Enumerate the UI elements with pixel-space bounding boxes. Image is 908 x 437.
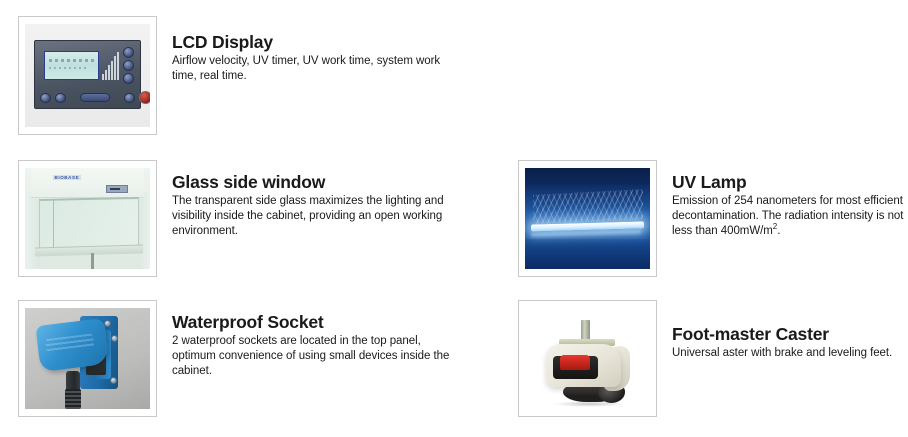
uv-lamp-photo xyxy=(525,168,650,269)
lcd-round-button-3 xyxy=(123,73,134,84)
feature-card-lcd-display: LCD Display Airflow velocity, UV timer, … xyxy=(18,16,457,135)
socket-screw-top xyxy=(104,320,111,327)
glass-side-window-photo-frame: BIOBASE xyxy=(18,160,157,277)
lcd-left-arrow-button xyxy=(40,93,51,103)
glass-side-window-description: The transparent side glass maximizes the… xyxy=(172,194,457,240)
cabinet-top-panel xyxy=(31,168,144,198)
cabinet-right-wall xyxy=(138,192,151,269)
uv-lamp-description-line-4: than 400mW/m xyxy=(695,225,772,237)
airflow-bars-icon xyxy=(102,52,119,80)
foot-master-caster-title: Foot-master Caster xyxy=(672,324,908,344)
foot-master-caster-description: Universal aster with brake and leveling … xyxy=(672,346,908,361)
waterproof-socket-description: 2 waterproof sockets are located in the … xyxy=(172,334,457,380)
lcd-up-down-pill-button xyxy=(80,93,110,102)
glass-side-window-photo: BIOBASE xyxy=(25,168,150,269)
socket-cable-strain-relief xyxy=(65,389,81,409)
lcd-panel-body xyxy=(34,40,142,109)
lcd-bottom-button-row xyxy=(40,91,135,104)
feature-card-waterproof-socket: Waterproof Socket 2 waterproof sockets a… xyxy=(18,300,457,417)
lcd-right-buttons xyxy=(120,47,136,84)
lcd-round-button-2 xyxy=(123,60,134,71)
lcd-power-button xyxy=(139,91,150,104)
waterproof-socket-text-block: Waterproof Socket 2 waterproof sockets a… xyxy=(157,300,457,380)
foot-master-caster-photo-frame xyxy=(518,300,657,417)
lcd-display-text-block: LCD Display Airflow velocity, UV timer, … xyxy=(157,16,457,84)
waterproof-socket-photo-frame xyxy=(18,300,157,417)
feature-card-foot-master-caster: Foot-master Caster Universal aster with … xyxy=(518,300,908,417)
glass-side-window-text-block: Glass side window The transparent side g… xyxy=(157,160,457,240)
foot-master-caster-text-block: Foot-master Caster Universal aster with … xyxy=(657,300,908,361)
lcd-enter-button xyxy=(124,93,135,103)
uv-lamp-text-block: UV Lamp Emission of 254 nanometers for m… xyxy=(657,160,908,240)
uv-lamp-description-tail: . xyxy=(777,225,780,237)
lcd-screen xyxy=(44,51,99,80)
uv-perforated-grille xyxy=(533,189,643,225)
waterproof-socket-photo xyxy=(25,308,150,409)
glass-side-window-title: Glass side window xyxy=(172,172,457,192)
cabinet-stand-leg xyxy=(91,253,94,269)
uv-lamp-photo-frame xyxy=(518,160,657,277)
lcd-round-button-1 xyxy=(123,47,134,58)
uv-lower-shading xyxy=(525,239,650,269)
uv-lamp-description-line-1: Emission of 254 nanometers for xyxy=(672,195,833,207)
uv-lamp-description: Emission of 254 nanometers for most effi… xyxy=(672,194,908,240)
lcd-display-photo-frame xyxy=(18,16,157,135)
foot-master-caster-photo xyxy=(525,308,650,409)
socket-screw-bottom xyxy=(110,377,117,384)
biobase-brand-label: BIOBASE xyxy=(53,175,82,180)
cabinet-left-wall xyxy=(25,192,40,269)
lcd-display-title: LCD Display xyxy=(172,32,457,52)
feature-grid-page: LCD Display Airflow velocity, UV timer, … xyxy=(0,0,908,437)
cabinet-display-panel xyxy=(106,185,127,193)
caster-red-brake-pedal xyxy=(560,355,590,369)
lcd-right-arrow-button xyxy=(55,93,66,103)
lcd-control-panel-photo xyxy=(25,24,150,127)
lcd-display-description: Airflow velocity, UV timer, UV work time… xyxy=(172,54,457,84)
waterproof-socket-title: Waterproof Socket xyxy=(172,312,457,332)
uv-cabinet-ceiling xyxy=(525,168,650,185)
uv-lamp-title: UV Lamp xyxy=(672,172,908,192)
feature-card-uv-lamp: UV Lamp Emission of 254 nanometers for m… xyxy=(518,160,908,277)
transparent-glass-pane xyxy=(39,197,139,250)
feature-card-glass-side-window: BIOBASE Glass side window The transparen… xyxy=(18,160,457,277)
